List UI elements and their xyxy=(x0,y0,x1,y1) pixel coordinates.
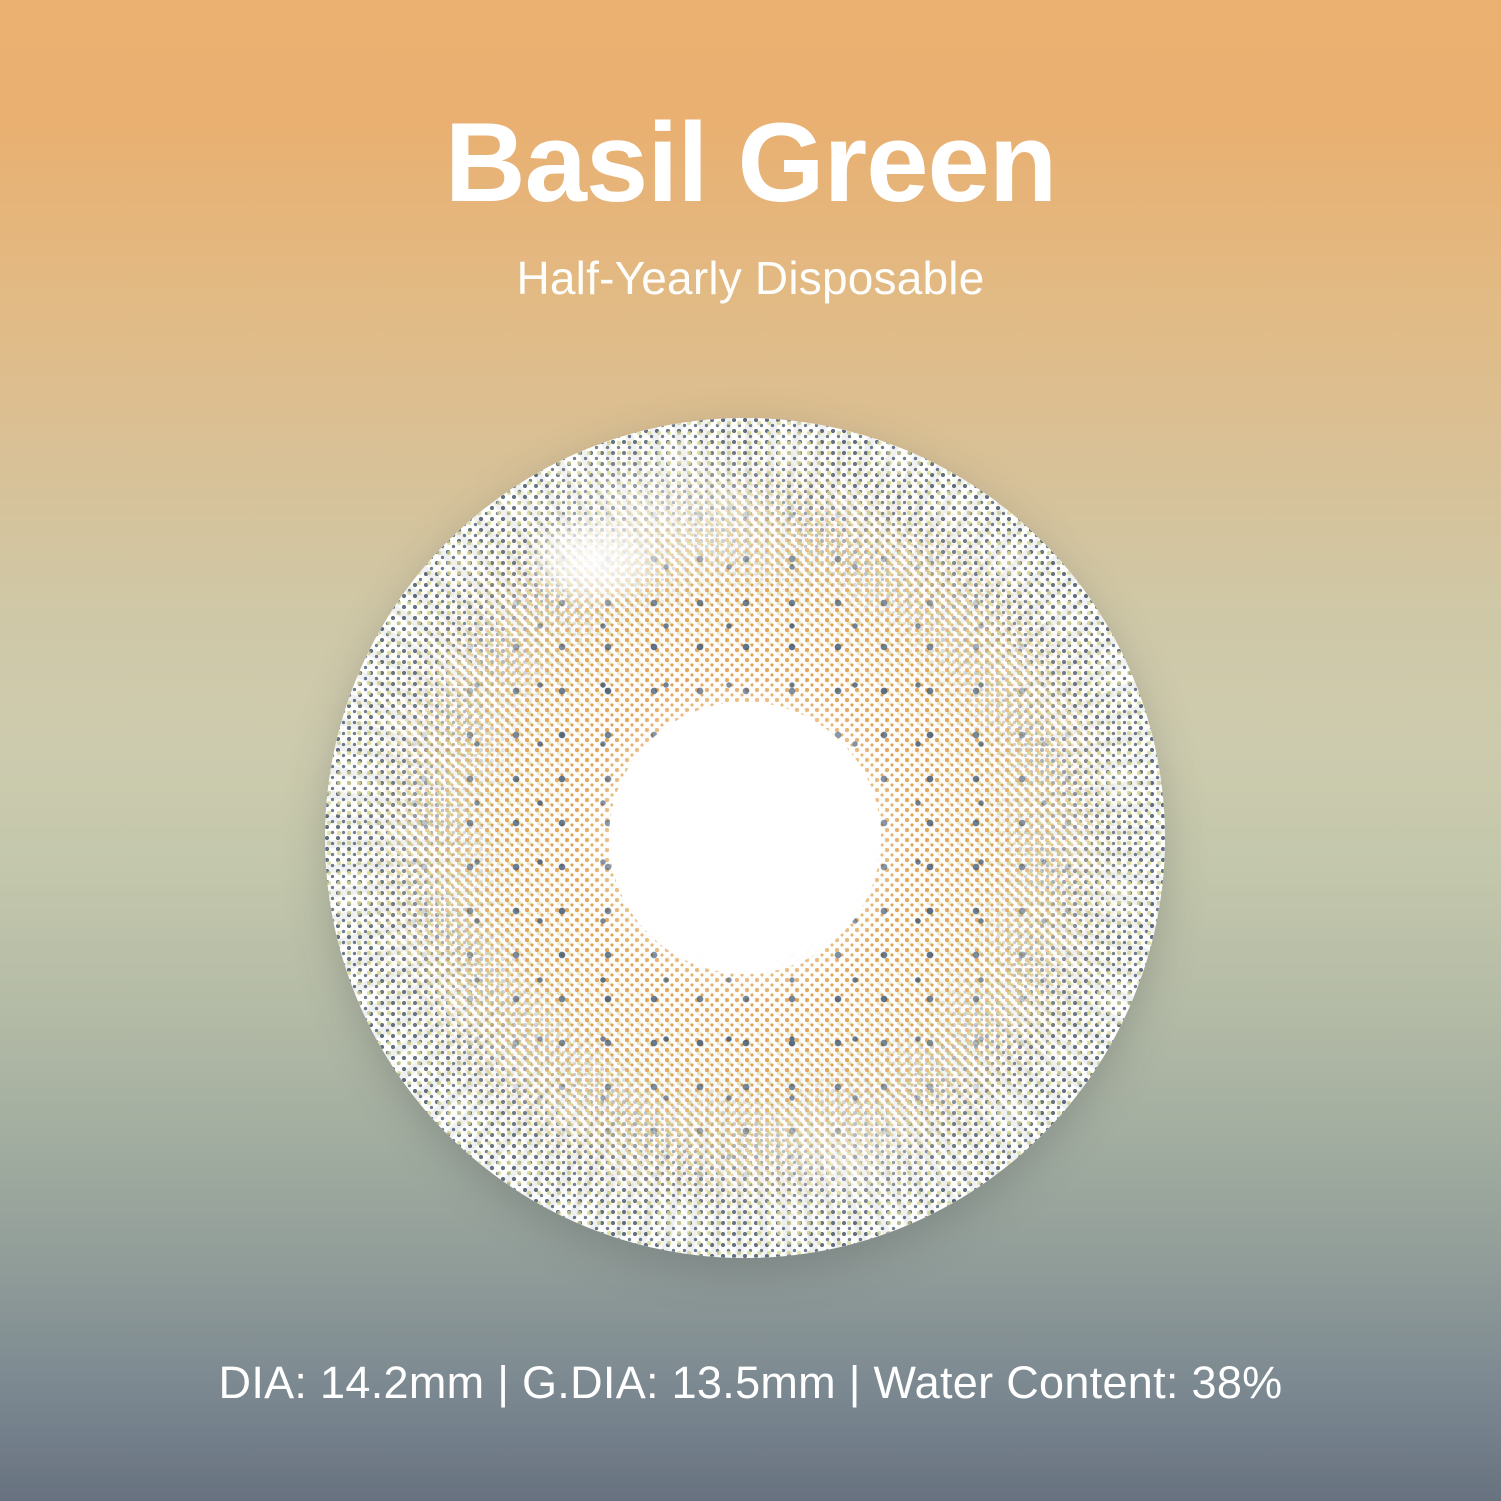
specs-line: DIA: 14.2mm | G.DIA: 13.5mm | Water Cont… xyxy=(219,1357,1283,1409)
product-title: Basil Green xyxy=(0,104,1501,223)
product-card: Basil Green Half-Yearly Disposable DIA: … xyxy=(0,0,1501,1501)
contact-lens-image xyxy=(325,418,1165,1258)
specs-bar: DIA: 14.2mm | G.DIA: 13.5mm | Water Cont… xyxy=(0,1357,1501,1409)
product-subtitle: Half-Yearly Disposable xyxy=(0,253,1501,304)
heading-block: Basil Green Half-Yearly Disposable xyxy=(0,104,1501,303)
lens-pupil-opening xyxy=(609,702,881,974)
